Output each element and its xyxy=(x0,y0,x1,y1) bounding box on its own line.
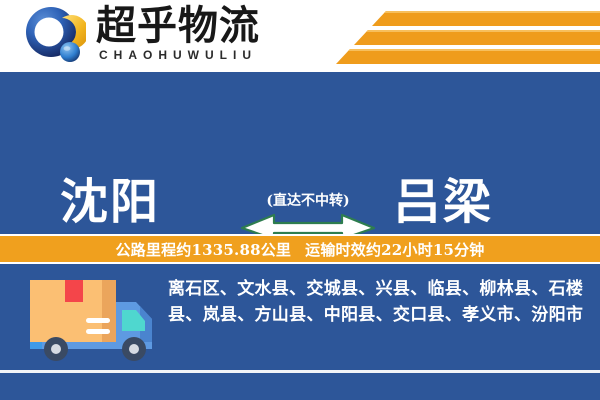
route-info-bar: 公路里程约1335.88公里 运输时效约22小时15分钟 xyxy=(0,234,600,264)
logistics-route-banner: 超乎物流 CHAOHUWULIU 沈阳 (直达不中转) 【往返运输】 吕梁 公路… xyxy=(0,0,600,400)
truck-illustration xyxy=(22,272,162,364)
coverage-section: 离石区、文水县、交城县、兴县、临县、柳林县、石楼县、岚县、方山县、中阳县、交口县… xyxy=(0,264,600,400)
circle-crescent-logo-icon xyxy=(24,6,86,68)
delivery-truck-icon xyxy=(22,272,162,364)
route-section: 沈阳 (直达不中转) 【往返运输】 吕梁 xyxy=(0,72,600,234)
duration-text: 运输时效约22小时15分钟 xyxy=(305,239,484,260)
header-bar: 超乎物流 CHAOHUWULIU xyxy=(0,0,600,72)
brand-name-cn: 超乎物流 xyxy=(96,4,260,48)
origin-city: 沈阳 xyxy=(60,176,160,228)
distance-text: 公路里程约1335.88公里 xyxy=(115,239,291,260)
brand-name-en: CHAOHUWULIU xyxy=(99,48,257,62)
covered-districts-text: 离石区、文水县、交城县、兴县、临县、柳林县、石楼县、岚县、方山县、中阳县、交口县… xyxy=(168,276,586,328)
direct-service-note: (直达不中转) xyxy=(240,190,376,210)
footer-divider xyxy=(0,370,600,373)
orange-speed-stripes-icon xyxy=(320,0,600,72)
company-logo xyxy=(24,6,86,68)
destination-city: 吕梁 xyxy=(393,176,493,228)
